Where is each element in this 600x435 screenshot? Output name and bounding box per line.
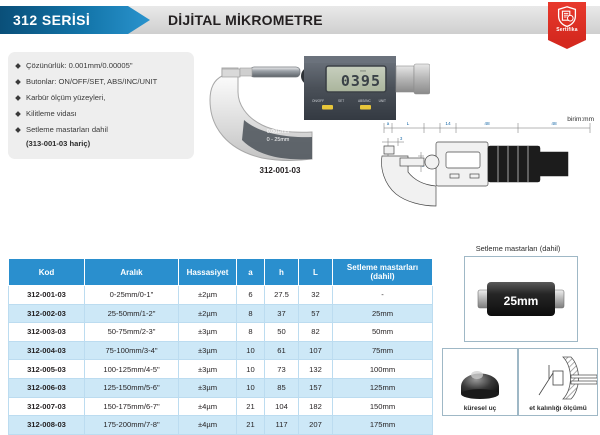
specification-table: Kod Aralık Hassasiyet a h L Setleme mast… [8, 258, 433, 435]
certificate-badge-tail [548, 40, 586, 49]
cell-aralik: 50-75mm/2-3" [85, 323, 179, 342]
lcd-display-value: 0395 [341, 72, 381, 90]
table-row: 312-001-03 0-25mm/0-1" ±2µm 6 27.5 32 - [9, 286, 433, 305]
series-arrow-tag: 312 SERİSİ [0, 6, 150, 34]
setting-standard-panel: 25mm [464, 256, 578, 342]
cell-aralik: 25-50mm/1-2" [85, 304, 179, 323]
cell-kod: 312-008-03 [9, 416, 85, 435]
cell-a: 21 [237, 416, 265, 435]
list-item: Kilitleme vidası [8, 109, 194, 119]
cell-a: 6 [237, 286, 265, 305]
cell-a: 10 [237, 341, 265, 360]
cell-aralik: 100-125mm/4-5" [85, 360, 179, 379]
series-label: 312 SERİSİ [0, 12, 90, 28]
setting-standards-title: Setleme mastarları (dahil) [440, 244, 596, 253]
table-header-row: Kod Aralık Hassasiyet a h L Setleme mast… [9, 259, 433, 286]
cell-h: 61 [265, 341, 299, 360]
list-item: Karbür ölçüm yüzeyleri, [8, 93, 194, 103]
column-header-setleme: Setleme mastarları (dahil) [333, 259, 433, 286]
table-row: 312-003-03 50-75mm/2-3" ±3µm 8 50 82 50m… [9, 323, 433, 342]
svg-text:mm: mm [360, 69, 366, 73]
table-row: 312-008-03 175-200mm/7-8" ±4µm 21 117 20… [9, 416, 433, 435]
technical-drawing: a L 14 48 48 3 h a [378, 112, 598, 224]
setting-standard-size-label: 25mm [504, 294, 539, 308]
cell-aralik: 75-100mm/3-4" [85, 341, 179, 360]
feature-text: Karbür ölçüm yüzeyleri, [26, 93, 105, 102]
feature-text: Kilitleme vidası [26, 109, 77, 118]
cell-aralik: 0-25mm/0-1" [85, 286, 179, 305]
column-header-kod: Kod [9, 259, 85, 286]
cell-a: 10 [237, 378, 265, 397]
cell-h: 117 [265, 416, 299, 435]
cell-h: 104 [265, 397, 299, 416]
svg-text:14: 14 [445, 121, 451, 127]
cell-aralik: 125-150mm/5-6" [85, 378, 179, 397]
table-row: 312-007-03 150-175mm/6-7" ±4µm 21 104 18… [9, 397, 433, 416]
cell-hassasiyet: ±3µm [179, 323, 237, 342]
cell-kod: 312-006-03 [9, 378, 85, 397]
photo-range-label: 0 - 25mm [267, 137, 290, 143]
feature-exclusion-note: (313-001-03 hariç) [8, 139, 194, 148]
cell-h: 50 [265, 323, 299, 342]
svg-text:L: L [407, 121, 410, 127]
column-header-a: a [237, 259, 265, 286]
svg-text:UNIT: UNIT [379, 99, 386, 103]
product-photo-caption: 312-001-03 [200, 166, 360, 175]
diamond-bullet-icon [15, 127, 21, 133]
certificate-badge: Sertifika [548, 2, 586, 49]
cell-l: 32 [299, 286, 333, 305]
feature-list-panel: Çözünürlük: 0.001mm/0.00005" Butonlar: O… [8, 52, 194, 159]
cell-hassasiyet: ±2µm [179, 286, 237, 305]
column-header-h: h [265, 259, 299, 286]
certificate-label: Sertifika [548, 27, 586, 33]
cell-setleme: 150mm [333, 397, 433, 416]
wall-thickness-panel: et kalınlığı ölçümü [518, 348, 598, 416]
cell-hassasiyet: ±4µm [179, 397, 237, 416]
cell-kod: 312-005-03 [9, 360, 85, 379]
diamond-bullet-icon [15, 95, 21, 101]
cell-l: 82 [299, 323, 333, 342]
cell-l: 207 [299, 416, 333, 435]
cell-a: 10 [237, 360, 265, 379]
cell-setleme: - [333, 286, 433, 305]
cell-setleme: 25mm [333, 304, 433, 323]
svg-text:a: a [387, 121, 390, 126]
feature-text: Çözünürlük: 0.001mm/0.00005" [26, 61, 133, 70]
cell-setleme: 50mm [333, 323, 433, 342]
feature-text: Butonlar: ON/OFF/SET, ABS/INC/UNIT [26, 77, 157, 86]
column-header-l: L [299, 259, 333, 286]
svg-text:ON/OFF: ON/OFF [312, 99, 324, 103]
cell-l: 107 [299, 341, 333, 360]
cell-kod: 312-004-03 [9, 341, 85, 360]
table-row: 312-004-03 75-100mm/3-4" ±3µm 10 61 107 … [9, 341, 433, 360]
cell-setleme: 75mm [333, 341, 433, 360]
feature-text: Setleme mastarları dahil [26, 125, 108, 134]
cell-kod: 312-003-03 [9, 323, 85, 342]
column-header-hassasiyet: Hassasiyet [179, 259, 237, 286]
list-item: Butonlar: ON/OFF/SET, ABS/INC/UNIT [8, 77, 194, 87]
table-row: 312-005-03 100-125mm/4-5" ±3µm 10 73 132… [9, 360, 433, 379]
cell-h: 27.5 [265, 286, 299, 305]
setting-standard-image: 25mm [465, 257, 577, 341]
cell-l: 132 [299, 360, 333, 379]
svg-text:ABS/INC: ABS/INC [358, 99, 371, 103]
cell-hassasiyet: ±3µm [179, 378, 237, 397]
cell-hassasiyet: ±2µm [179, 304, 237, 323]
cell-l: 157 [299, 378, 333, 397]
cell-l: 182 [299, 397, 333, 416]
cell-h: 37 [265, 304, 299, 323]
table-row: 312-006-03 125-150mm/5-6" ±3µm 10 85 157… [9, 378, 433, 397]
diamond-bullet-icon [15, 79, 21, 85]
list-item: Setleme mastarları dahil [8, 125, 194, 135]
diamond-bullet-icon [15, 111, 21, 117]
cell-a: 8 [237, 304, 265, 323]
svg-text:48: 48 [484, 121, 490, 127]
svg-text:48: 48 [551, 121, 557, 127]
cell-kod: 312-002-03 [9, 304, 85, 323]
svg-text:SET: SET [338, 99, 344, 103]
cell-aralik: 175-200mm/7-8" [85, 416, 179, 435]
cell-setleme: 125mm [333, 378, 433, 397]
cell-l: 57 [299, 304, 333, 323]
certificate-shield-icon [557, 6, 577, 27]
svg-text:3: 3 [400, 136, 403, 141]
cell-kod: 312-007-03 [9, 397, 85, 416]
cell-a: 8 [237, 323, 265, 342]
cell-a: 21 [237, 397, 265, 416]
cell-kod: 312-001-03 [9, 286, 85, 305]
cell-hassasiyet: ±4µm [179, 416, 237, 435]
cell-hassasiyet: ±3µm [179, 360, 237, 379]
cell-aralik: 150-175mm/6-7" [85, 397, 179, 416]
spherical-tip-caption: küresel uç [443, 405, 517, 412]
diamond-bullet-icon [15, 63, 21, 69]
cell-h: 73 [265, 360, 299, 379]
feature-list: Çözünürlük: 0.001mm/0.00005" Butonlar: O… [8, 52, 194, 135]
cell-hassasiyet: ±3µm [179, 341, 237, 360]
cell-h: 85 [265, 378, 299, 397]
photo-resolution-label: 0.001mm [267, 129, 290, 135]
column-header-aralik: Aralık [85, 259, 179, 286]
list-item: Çözünürlük: 0.001mm/0.00005" [8, 61, 194, 71]
table-row: 312-002-03 25-50mm/1-2" ±2µm 8 37 57 25m… [9, 304, 433, 323]
wall-thickness-caption: et kalınlığı ölçümü [519, 405, 597, 412]
specification-table-wrapper: Kod Aralık Hassasiyet a h L Setleme mast… [8, 258, 432, 435]
spherical-tip-panel: küresel uç [442, 348, 518, 416]
cell-setleme: 100mm [333, 360, 433, 379]
cell-setleme: 175mm [333, 416, 433, 435]
